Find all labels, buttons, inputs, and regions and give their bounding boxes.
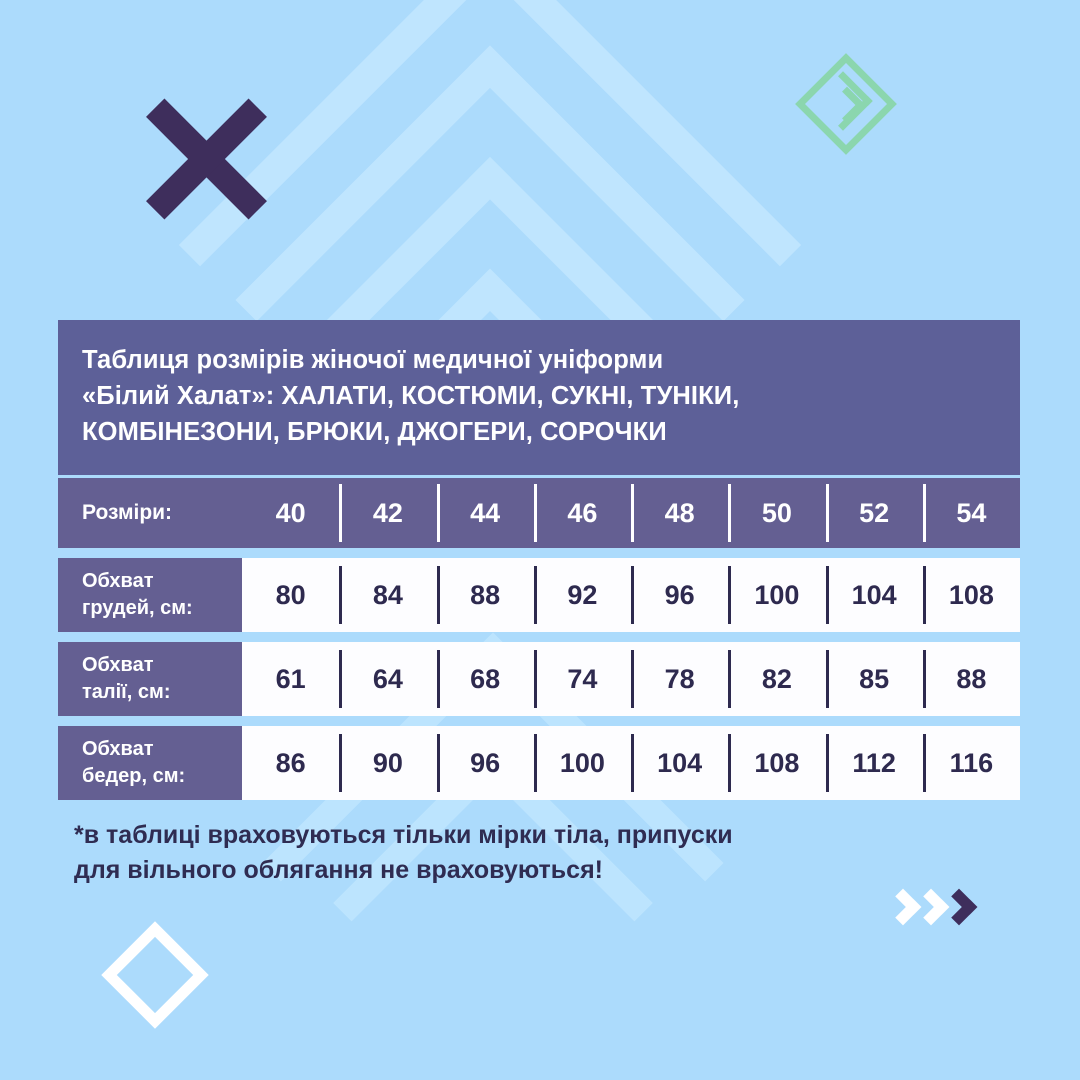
table-cell: 92 xyxy=(534,558,631,632)
table-row-cells: 61 64 68 74 78 82 85 88 xyxy=(242,642,1020,716)
x-mark-icon xyxy=(150,103,262,215)
table-cell: 104 xyxy=(631,726,728,800)
table-row-label-line-2: грудей, см: xyxy=(82,595,242,622)
table-row-label: Обхват бедер, см: xyxy=(58,726,242,800)
table-header-cell: 46 xyxy=(534,478,631,548)
table-cell: 112 xyxy=(826,726,923,800)
diamond-outline-icon xyxy=(101,921,208,1028)
table-cell: 82 xyxy=(728,642,825,716)
table-cell: 100 xyxy=(728,558,825,632)
table-row-label: Обхват грудей, см: xyxy=(58,558,242,632)
table-row-label-line-1: Обхват xyxy=(82,652,242,679)
table-row-label-line-1: Обхват xyxy=(82,568,242,595)
table-title-bar: Таблиця розмірів жіночої медичної уніфор… xyxy=(58,320,1020,475)
table-cell: 86 xyxy=(242,726,339,800)
table-cell: 108 xyxy=(728,726,825,800)
table-cell: 100 xyxy=(534,726,631,800)
table-cell: 78 xyxy=(631,642,728,716)
table-header-cell: 44 xyxy=(437,478,534,548)
table-cell: 85 xyxy=(826,642,923,716)
table-cell: 108 xyxy=(923,558,1020,632)
table-cell: 88 xyxy=(923,642,1020,716)
table-row-label-line-2: бедер, см: xyxy=(82,763,242,790)
chevron-right-icon-3 xyxy=(941,889,978,926)
table-row-cells: 86 90 96 100 104 108 112 116 xyxy=(242,726,1020,800)
table-header-cell: 48 xyxy=(631,478,728,548)
size-chart-table: Таблиця розмірів жіночої медичної уніфор… xyxy=(58,320,1020,800)
triple-chevron-right-icon xyxy=(890,880,1010,940)
table-cell: 74 xyxy=(534,642,631,716)
table-cell: 80 xyxy=(242,558,339,632)
table-cell: 68 xyxy=(437,642,534,716)
table-cell: 84 xyxy=(339,558,436,632)
footnote: *в таблиці враховуються тільки мірки тіл… xyxy=(74,818,934,888)
table-header-cell: 40 xyxy=(242,478,339,548)
table-cell: 88 xyxy=(437,558,534,632)
footnote-line-2: для вільного облягання не враховуються! xyxy=(74,853,934,888)
table-cell: 96 xyxy=(437,726,534,800)
nested-diamond-chevron-icon xyxy=(800,58,904,162)
page-title-line-2: «Білий Халат»: ХАЛАТИ, КОСТЮМИ, СУКНІ, Т… xyxy=(82,378,1020,414)
table-cell: 104 xyxy=(826,558,923,632)
table-cell: 96 xyxy=(631,558,728,632)
page-title-line-1: Таблиця розмірів жіночої медичної уніфор… xyxy=(82,342,1020,378)
table-header-cell: 52 xyxy=(826,478,923,548)
table-cell: 116 xyxy=(923,726,1020,800)
table-cell: 90 xyxy=(339,726,436,800)
table-header-cell: 50 xyxy=(728,478,825,548)
table-row-cells: 80 84 88 92 96 100 104 108 xyxy=(242,558,1020,632)
table-row: Обхват грудей, см: 80 84 88 92 96 100 10… xyxy=(58,558,1020,632)
table-header-cell: 42 xyxy=(339,478,436,548)
table-row-label-line-2: талії, см: xyxy=(82,679,242,706)
table-header-row: Розміри: 40 42 44 46 48 50 52 54 xyxy=(58,478,1020,548)
table-row: Обхват талії, см: 61 64 68 74 78 82 85 8… xyxy=(58,642,1020,716)
table-header-cell: 54 xyxy=(923,478,1020,548)
table-cell: 64 xyxy=(339,642,436,716)
table-header-label: Розміри: xyxy=(58,478,242,548)
page-title-line-3: КОМБІНЕЗОНИ, БРЮКИ, ДЖОГЕРИ, СОРОЧКИ xyxy=(82,414,1020,450)
table-row: Обхват бедер, см: 86 90 96 100 104 108 1… xyxy=(58,726,1020,800)
table-header-cells: 40 42 44 46 48 50 52 54 xyxy=(242,478,1020,548)
table-cell: 61 xyxy=(242,642,339,716)
table-row-label-line-1: Обхват xyxy=(82,736,242,763)
table-row-label: Обхват талії, см: xyxy=(58,642,242,716)
footnote-line-1: *в таблиці враховуються тільки мірки тіл… xyxy=(74,818,934,853)
